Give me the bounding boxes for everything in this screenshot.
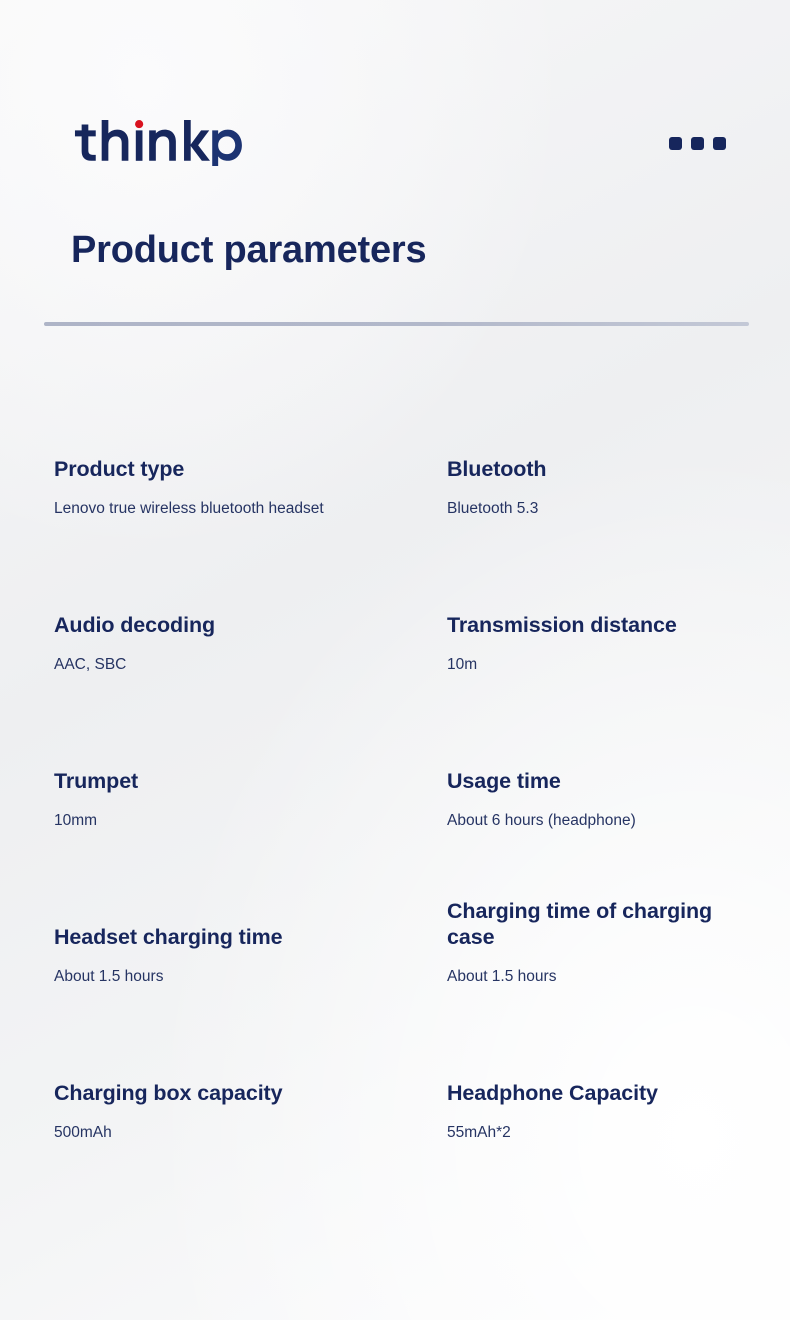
spec-item: Charging box capacity 500mAh: [54, 1024, 447, 1180]
spec-value: About 1.5 hours: [447, 967, 732, 1024]
spec-label: Charging box capacity: [54, 1080, 435, 1106]
spec-label: Headphone Capacity: [447, 1080, 732, 1106]
spec-grid: Product type Lenovo true wireless blueto…: [54, 400, 744, 1180]
spec-value: 55mAh*2: [447, 1123, 732, 1180]
spec-item: Headset charging time About 1.5 hours: [54, 868, 447, 1024]
spec-label: Headset charging time: [54, 924, 435, 950]
spec-label: Trumpet: [54, 768, 435, 794]
thinkplus-logo: [72, 120, 250, 166]
spec-value: AAC, SBC: [54, 655, 435, 712]
spec-item: Product type Lenovo true wireless blueto…: [54, 400, 447, 556]
spec-value: 10mm: [54, 811, 435, 868]
spec-label: Usage time: [447, 768, 732, 794]
kebab-dot-3: [713, 137, 726, 150]
spec-value: 500mAh: [54, 1123, 435, 1180]
spec-value: About 6 hours (headphone): [447, 811, 732, 868]
spec-label: Charging time of charging case: [447, 898, 732, 950]
product-parameters-page: Product parameters Product type Lenovo t…: [0, 0, 790, 1320]
spec-item: Bluetooth Bluetooth 5.3: [447, 400, 744, 556]
spec-item: Trumpet 10mm: [54, 712, 447, 868]
spec-item: Usage time About 6 hours (headphone): [447, 712, 744, 868]
spec-value: Bluetooth 5.3: [447, 499, 732, 556]
spec-item: Charging time of charging case About 1.5…: [447, 868, 744, 1024]
page-title: Product parameters: [71, 230, 426, 271]
spec-item: Transmission distance 10m: [447, 556, 744, 712]
page-header: [72, 112, 730, 174]
spec-label: Product type: [54, 456, 435, 482]
spec-value: 10m: [447, 655, 732, 712]
spec-value: Lenovo true wireless bluetooth headset: [54, 499, 435, 556]
title-divider: [44, 322, 749, 326]
spec-label: Audio decoding: [54, 612, 435, 638]
spec-label: Transmission distance: [447, 612, 732, 638]
spec-label: Bluetooth: [447, 456, 732, 482]
spec-item: Headphone Capacity 55mAh*2: [447, 1024, 744, 1180]
kebab-dot-2: [691, 137, 704, 150]
spec-item: Audio decoding AAC, SBC: [54, 556, 447, 712]
more-options-icon[interactable]: [665, 129, 730, 158]
kebab-dot-1: [669, 137, 682, 150]
spec-value: About 1.5 hours: [54, 967, 435, 1024]
